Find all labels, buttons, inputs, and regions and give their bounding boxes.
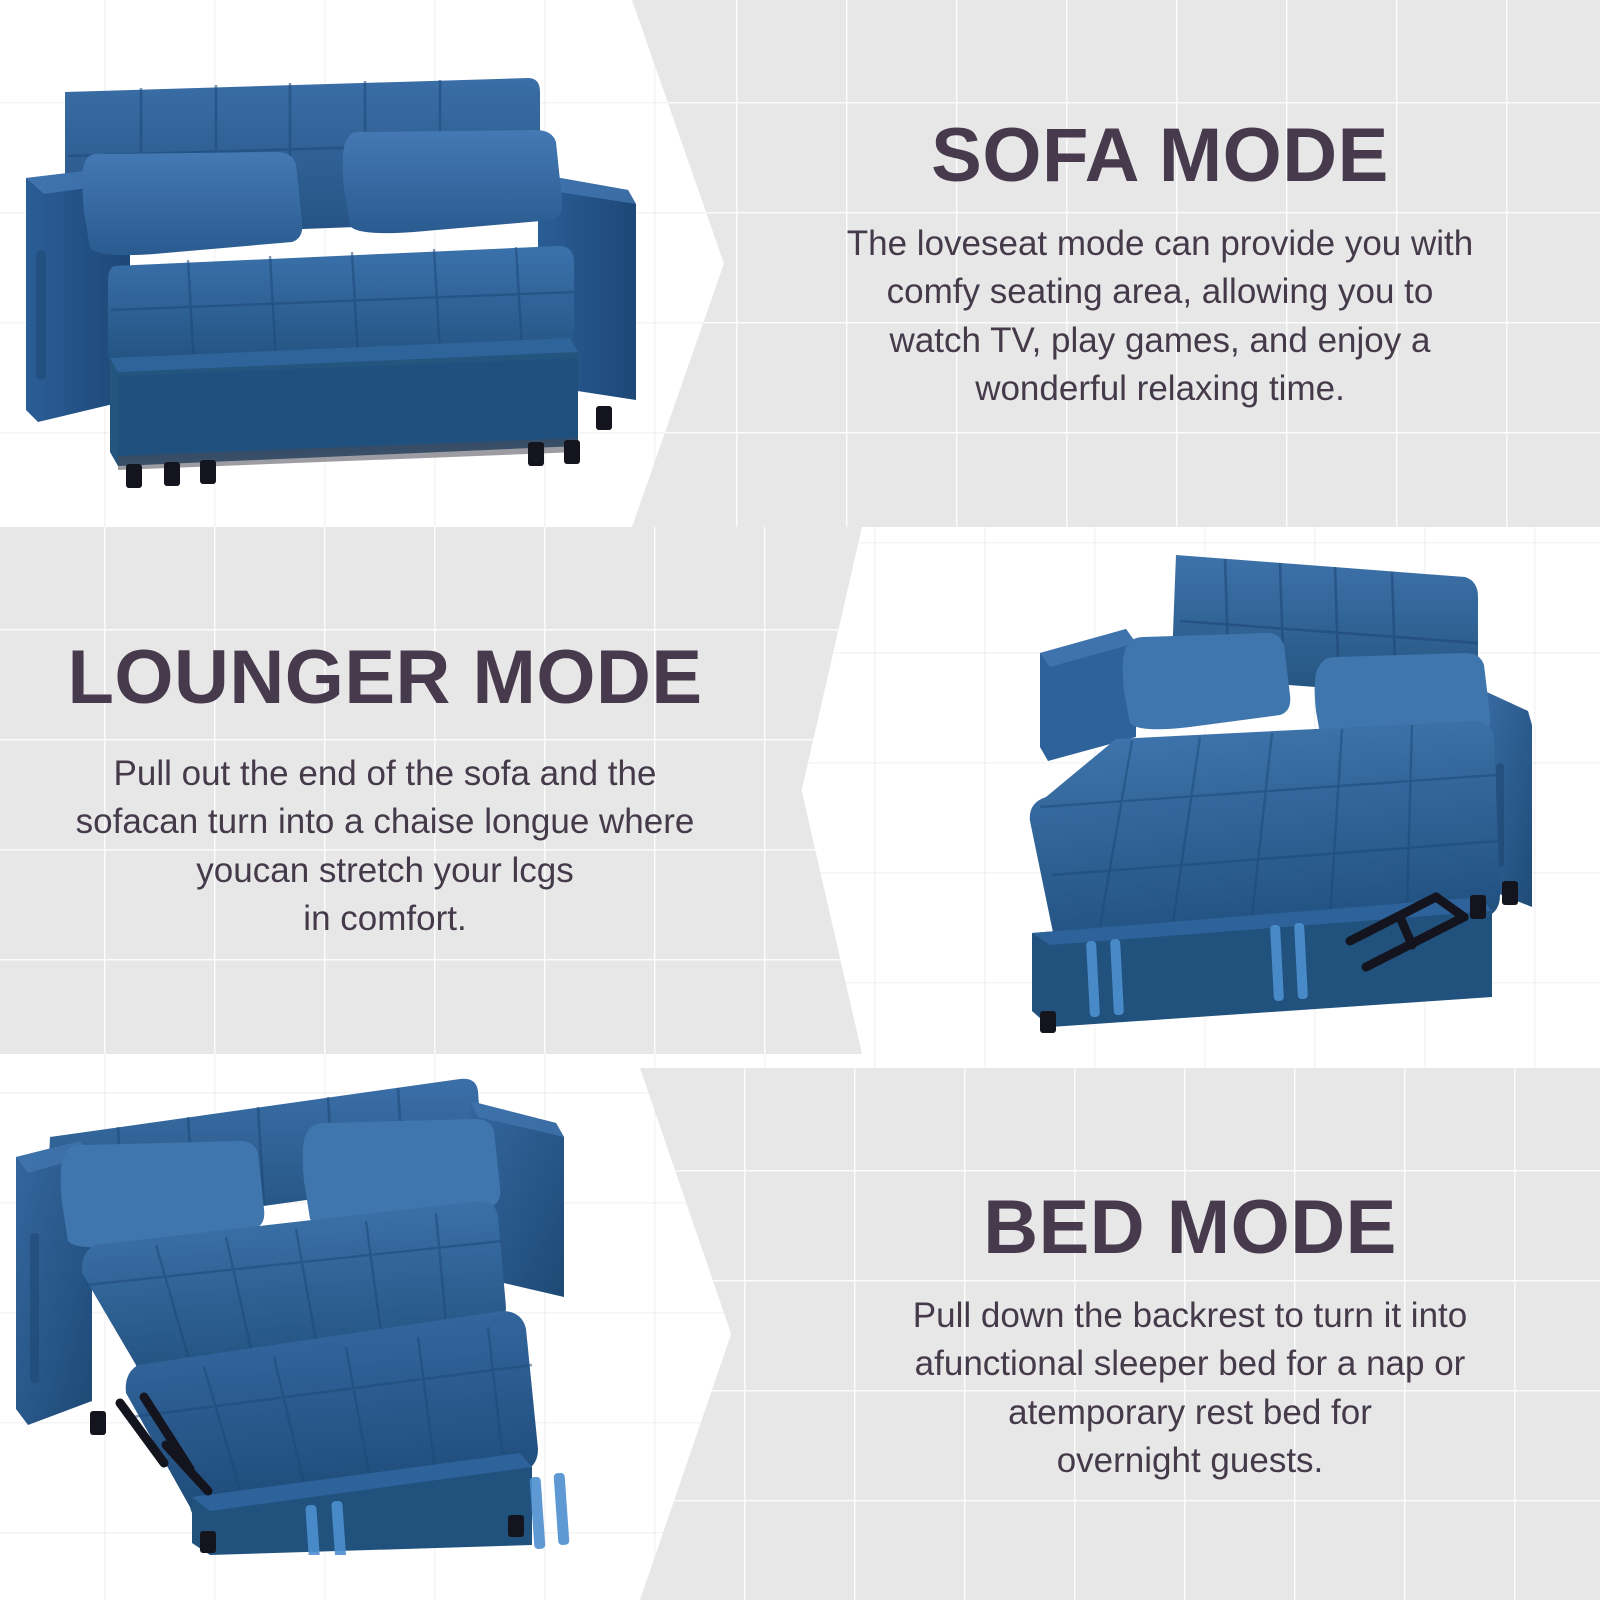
heading-sofa-mode: SOFA MODE [800, 118, 1520, 194]
description-sofa-mode: The loveseat mode can provide you with c… [800, 220, 1520, 413]
desc-line: comfy seating area, allowing you to [887, 272, 1434, 311]
description-lounger-mode: Pull out the end of the sofa and the sof… [20, 750, 750, 943]
desc-line: afunctional sleeper bed for a nap or [915, 1344, 1466, 1383]
product-image-bed-mode [8, 1045, 698, 1555]
text-block-bed-mode: BED MODE Pull down the backrest to turn … [840, 1190, 1540, 1485]
desc-line: sofacan turn into a chaise longue where [76, 802, 695, 841]
description-bed-mode: Pull down the backrest to turn it into a… [840, 1292, 1540, 1485]
infographic-canvas: SOFA MODE The loveseat mode can provide … [0, 0, 1600, 1600]
desc-line: in comfort. [303, 899, 466, 938]
desc-line: Pull out the end of the sofa and the [114, 754, 657, 793]
text-block-lounger-mode: LOUNGER MODE Pull out the end of the sof… [20, 640, 750, 943]
text-block-sofa-mode: SOFA MODE The loveseat mode can provide … [800, 118, 1520, 413]
desc-line: watch TV, play games, and enjoy a [890, 321, 1431, 360]
desc-line: atemporary rest bed for [1008, 1393, 1372, 1432]
product-image-lounger-mode [880, 525, 1540, 1035]
desc-line: wonderful relaxing time. [975, 369, 1345, 408]
desc-line: overnight guests. [1057, 1441, 1324, 1480]
desc-line: youcan stretch your lcgs [196, 851, 573, 890]
desc-line: The loveseat mode can provide you with [847, 224, 1473, 263]
desc-line: Pull down the backrest to turn it into [913, 1296, 1467, 1335]
product-image-sofa-mode [18, 70, 658, 490]
heading-lounger-mode: LOUNGER MODE [20, 640, 750, 716]
heading-bed-mode: BED MODE [840, 1190, 1540, 1266]
